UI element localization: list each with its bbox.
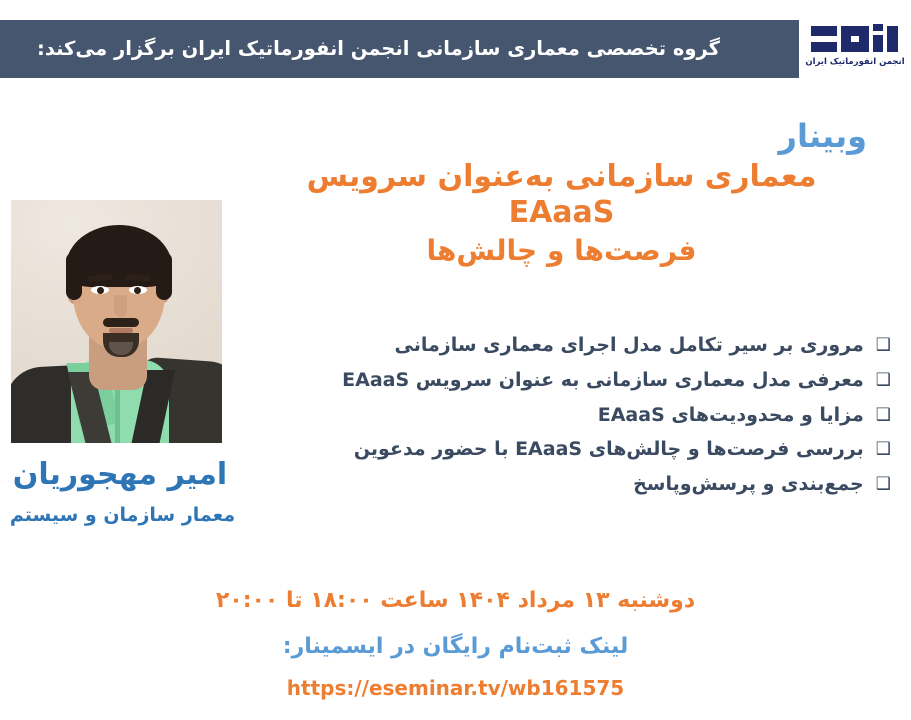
list-item: ❑ بررسی فرصت‌ها و چالش‌های EAaaS با حضور… (231, 438, 891, 462)
registration-link[interactable]: https://eseminar.tv/wb161575 (0, 676, 911, 700)
list-item: ❑ معرفی مدل معماری سازمانی به عنوان سروی… (231, 369, 891, 393)
pupil-left (97, 287, 104, 294)
agenda-item-label: بررسی فرصت‌ها و چالش‌های EAaaS با حضور م… (231, 438, 864, 462)
agenda-item-label: جمع‌بندی و پرسش‌وپاسخ (231, 473, 864, 497)
square-bullet-icon: ❑ (876, 404, 891, 427)
square-bullet-icon: ❑ (876, 369, 891, 392)
isi-logo-mark-icon (811, 24, 899, 54)
square-bullet-icon: ❑ (876, 438, 891, 461)
list-item: ❑ جمع‌بندی و پرسش‌وپاسخ (231, 473, 891, 497)
isi-logo-caption: انجمن انفورماتیک ایران (805, 57, 904, 67)
speaker-photo (11, 200, 222, 443)
list-item: ❑ مروری بر سیر تکامل مدل اجرای معماری سا… (231, 334, 891, 358)
event-date-time: دوشنبه ۱۳ مرداد ۱۴۰۴ ساعت ۱۸:۰۰ تا ۲۰:۰۰ (0, 588, 911, 613)
registration-label: لینک ثبت‌نام رایگان در ایسمینار: (0, 634, 911, 659)
hair-side-right (156, 252, 172, 300)
webinar-title-line3: فرصت‌ها و چالش‌ها (234, 233, 889, 268)
moustache (103, 318, 139, 327)
square-bullet-icon: ❑ (876, 473, 891, 496)
agenda-item-label: مزایا و محدودیت‌های EAaaS (231, 404, 864, 428)
hair-side-left (66, 252, 82, 300)
list-item: ❑ مزایا و محدودیت‌های EAaaS (231, 404, 891, 428)
webinar-kicker: وبینار (234, 118, 889, 155)
speaker-name: امیر مهجوریان (0, 458, 240, 491)
agenda-list: ❑ مروری بر سیر تکامل مدل اجرای معماری سا… (231, 334, 891, 508)
nose (114, 295, 127, 317)
webinar-title-line1: معماری سازمانی به‌عنوان سرویس (234, 159, 889, 196)
title-block: وبینار معماری سازمانی به‌عنوان سرویس EAa… (234, 118, 889, 268)
speaker-role: معمار سازمان و سیستم (0, 505, 245, 526)
agenda-item-label: معرفی مدل معماری سازمانی به عنوان سرویس … (231, 369, 864, 393)
header-title: گروه تخصصی معماری سازمانی انجمن انفورمات… (0, 37, 742, 60)
webinar-title-line2: EAaaS (234, 195, 889, 231)
isi-logo: انجمن انفورماتیک ایران (799, 20, 911, 78)
header-bar: گروه تخصصی معماری سازمانی انجمن انفورمات… (0, 20, 911, 78)
agenda-item-label: مروری بر سیر تکامل مدل اجرای معماری سازم… (231, 334, 864, 358)
pupil-right (134, 287, 141, 294)
square-bullet-icon: ❑ (876, 334, 891, 357)
